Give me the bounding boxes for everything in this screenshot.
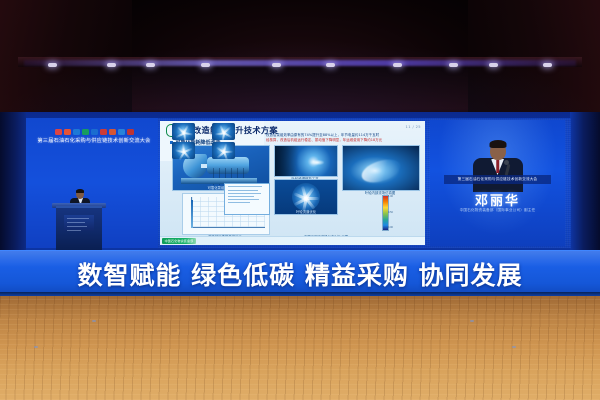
podium-front-plate — [64, 215, 94, 231]
speaker-name: 邓丽华 — [430, 190, 565, 209]
video-speaker-tie — [496, 160, 500, 173]
cfd-cell — [172, 123, 195, 140]
stage-fascia-banner: 数智赋能 绿色低碳 精益采购 协同发展 — [0, 250, 600, 297]
colorbar-tick-max: 1.00 — [388, 195, 396, 198]
backwall-right-edge — [570, 112, 600, 260]
colorbar-tick-mid: 0.50 — [388, 211, 396, 214]
cfd-cell — [212, 142, 235, 159]
video-caption-strip: 第三届石油石化采购与供应链技术创新交流大会 — [444, 175, 551, 184]
sponsor-logo-icon — [118, 129, 125, 135]
cfd-cell — [172, 142, 195, 159]
spotlight-icon — [48, 63, 57, 67]
carpet-texture — [0, 296, 600, 400]
sponsor-logo-icon — [55, 129, 62, 135]
sponsor-logo-icon — [73, 129, 80, 135]
slide-paragraph: 改造后泵组效率由原有的74%提升至88%以上，年节电量约114万千瓦时 经核算，… — [266, 133, 420, 143]
sponsor-logo-row — [40, 128, 148, 135]
presenter-hair — [76, 189, 84, 193]
spotlight-icon — [393, 63, 402, 67]
figure-spec-card — [224, 183, 270, 215]
presentation-slide: 更新改造能效提升技术方案 11 / 25 可靠化能耗降低改造 改造后泵组效率由原… — [160, 121, 425, 245]
spotlight-icon — [201, 63, 210, 67]
colorbar-tick-group: 1.00 0.50 0.00 — [388, 195, 396, 229]
video-caption-text: 第三届石油石化采购与供应链技术创新交流大会 — [458, 177, 538, 182]
slide-page-number: 11 / 25 — [406, 125, 421, 129]
paragraph-line: 经核算，改造后机组运行稳定、振动值下降明显，年运维费用下降约18万元 — [266, 138, 420, 143]
chart-curve-line — [191, 200, 193, 228]
slide-footer — [160, 236, 425, 245]
cfd-cell — [212, 123, 235, 140]
figure-impeller-cfd: 叶轮流道优化 — [274, 179, 338, 215]
spotlight-icon — [146, 63, 155, 67]
figure-welding-repair — [274, 145, 338, 177]
floor-reflection — [92, 320, 96, 322]
impeller-disc-shape — [292, 183, 320, 211]
sponsor-logo-icon — [91, 129, 98, 135]
slide-footer-logo: 中国石化物资装备部 — [162, 238, 196, 244]
floor-reflection — [34, 346, 38, 348]
sponsor-logo-icon — [127, 129, 134, 135]
stage-haze — [0, 40, 600, 120]
conference-stage-photo: 第三届石油石化采购与供应链技术创新交流大会 更新改造能效提升技术方案 11 / … — [0, 0, 600, 400]
live-video-panel: 第三届石油石化采购与供应链技术创新交流大会 邓丽华 中国石化物资装备部（国际事业… — [430, 120, 565, 246]
colorbar-tick-min: 0.00 — [388, 226, 396, 229]
figure-caption: 叶轮流道优化 — [275, 209, 337, 214]
sponsor-logo-icon — [100, 129, 107, 135]
welding-shadow — [275, 146, 299, 176]
spotlight-icon — [326, 63, 335, 67]
spotlight-icon — [449, 63, 458, 67]
spotlight-icon — [543, 63, 552, 67]
sponsor-logo-icon — [109, 129, 116, 135]
video-speaker-hair — [489, 140, 506, 148]
figure-vortex-flow — [342, 145, 420, 191]
sponsor-logo-icon — [64, 129, 71, 135]
sponsor-logo-icon — [82, 129, 89, 135]
event-title: 第三届石油石化采购与供应链技术创新交流大会 — [31, 137, 157, 144]
spotlight-icon — [489, 63, 498, 67]
speaker-role: 中国石化物资装备部（国际事业公司）副主任 — [430, 208, 565, 213]
backwall-left-edge — [0, 112, 26, 260]
spotlight-icon — [107, 63, 116, 67]
welding-arc-icon — [310, 160, 324, 165]
vortex-swirl-shape — [359, 155, 403, 186]
spotlight-icon — [272, 63, 281, 67]
floor-reflection — [512, 346, 516, 348]
figure-caption: 叶轮内部流场仿真图 — [342, 190, 418, 195]
floor-reflection — [470, 320, 474, 322]
venue-banner-text: 数智赋能 绿色低碳 精益采购 协同发展 — [0, 251, 600, 297]
hall-floor — [0, 296, 600, 400]
